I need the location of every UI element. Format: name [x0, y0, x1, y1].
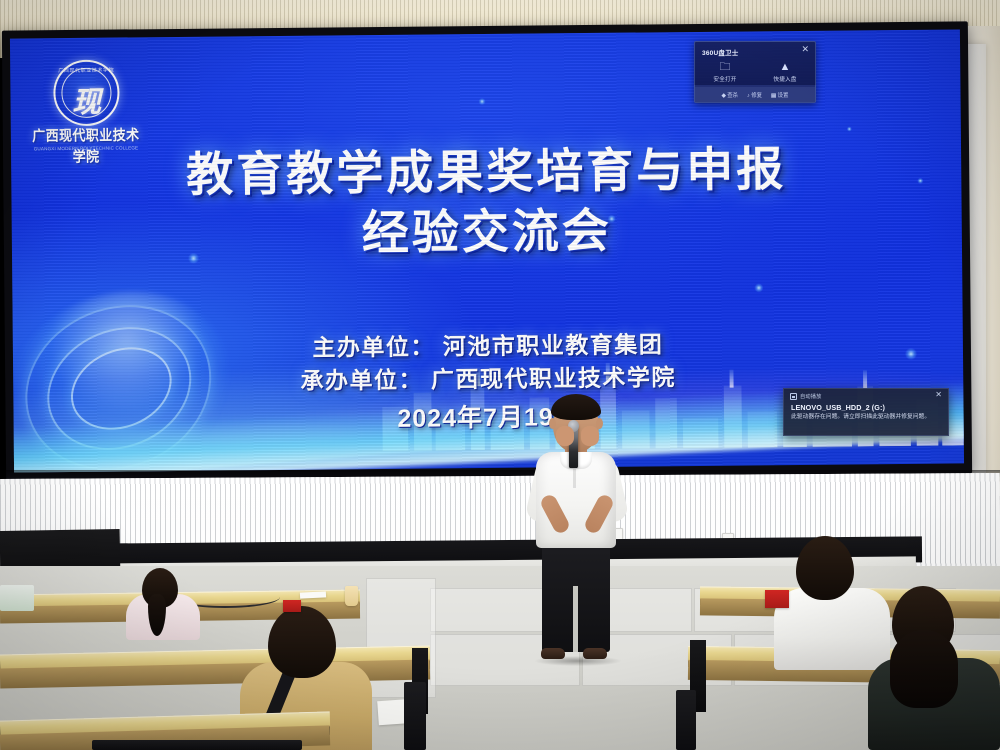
shield-icon: ◆: [722, 93, 726, 99]
seat-back: [92, 740, 302, 750]
presenter-hair: [551, 394, 601, 420]
popup-360-action-eject[interactable]: ▲ 快捷入盘: [755, 61, 815, 87]
popup-360-actions: 🗀 安全打开 ▲ 快捷入盘: [695, 61, 815, 87]
settings-icon: ▤: [771, 93, 776, 99]
popup-360-bar-label: 查杀: [727, 93, 738, 99]
seat-back: [404, 682, 426, 750]
popup-360-bar-repair[interactable]: ♪ 修复: [747, 91, 762, 99]
presentation-title: 教育教学成果奖培育与申报 经验交流会: [11, 137, 962, 266]
popup-360-bar-scan[interactable]: ◆ 查杀: [722, 91, 738, 99]
attendee-head: [268, 606, 336, 678]
sparkle: [847, 126, 852, 131]
popup-360-bottom-bar: ◆ 查杀 ♪ 修复 ▤ 设置: [695, 87, 815, 102]
notification-title: LENOVO_USB_HDD_2 (G:): [791, 403, 885, 412]
title-line-2: 经验交流会: [12, 198, 963, 267]
conference-hall-scene: 广西现代职业技术学院 现 广西现代职业技术学院 GUANGXI MODERN P…: [0, 0, 1000, 750]
presenter-sandal-left: [541, 648, 565, 659]
repair-icon: ♪: [747, 93, 750, 99]
emblem-glyph: 现: [55, 79, 117, 122]
presenter-ear-right: [596, 418, 603, 429]
popup-360-action-label: 快捷入盘: [755, 75, 815, 83]
attendee-front-right: [868, 586, 1000, 750]
paper-cup: [345, 586, 358, 606]
emblem-circle: 广西现代职业技术学院 现: [53, 60, 120, 127]
attendee-head: [796, 536, 854, 600]
attendee-hair: [890, 630, 958, 708]
notification-app-name: 自动播放: [800, 393, 822, 400]
red-booklet: [283, 600, 301, 612]
close-icon[interactable]: ✕: [801, 45, 809, 54]
popup-360-bar-label: 设置: [778, 93, 789, 99]
notification-header: 自动播放: [790, 393, 822, 400]
popup-360-usb-guard[interactable]: 360U盘卫士 ✕ 🗀 安全打开 ▲ 快捷入盘 ◆ 查杀 ♪ 修复 ▤ 设置: [694, 41, 816, 103]
title-line-1: 教育教学成果奖培育与申报: [11, 137, 962, 206]
presenter-sandal-right: [583, 648, 607, 659]
tissue-box: [0, 585, 34, 611]
red-booklet: [765, 590, 789, 608]
presenter-leg-gap: [573, 586, 578, 652]
notification-body: 此驱动器存在问题。请立即扫描此驱动器并修复问题。: [791, 413, 941, 422]
presenter-ear-left: [549, 418, 556, 429]
attendee-front-left: [118, 568, 208, 638]
sparkle: [479, 98, 486, 105]
close-icon[interactable]: ✕: [935, 391, 942, 399]
popup-360-bar-settings[interactable]: ▤ 设置: [771, 91, 788, 99]
seat-back: [676, 690, 696, 750]
presenter: [511, 390, 641, 690]
eject-icon: ▲: [755, 61, 815, 73]
sparkle: [754, 283, 763, 292]
popup-360-bar-label: 修复: [751, 93, 762, 99]
emblem-arc-text: 广西现代职业技术学院: [55, 67, 117, 75]
presenter-hand-left: [556, 426, 574, 446]
usb-drive-icon: [790, 393, 797, 400]
presenter-hand-right: [581, 426, 599, 446]
autoplay-notification[interactable]: 自动播放 ✕ LENOVO_USB_HDD_2 (G:) 此驱动器存在问题。请立…: [783, 388, 949, 436]
popup-360-title: 360U盘卫士: [702, 47, 738, 57]
popup-360-action-safe-open[interactable]: 🗀 安全打开: [695, 61, 755, 87]
popup-360-action-label: 安全打开: [695, 75, 755, 83]
folder-icon: 🗀: [695, 61, 755, 73]
